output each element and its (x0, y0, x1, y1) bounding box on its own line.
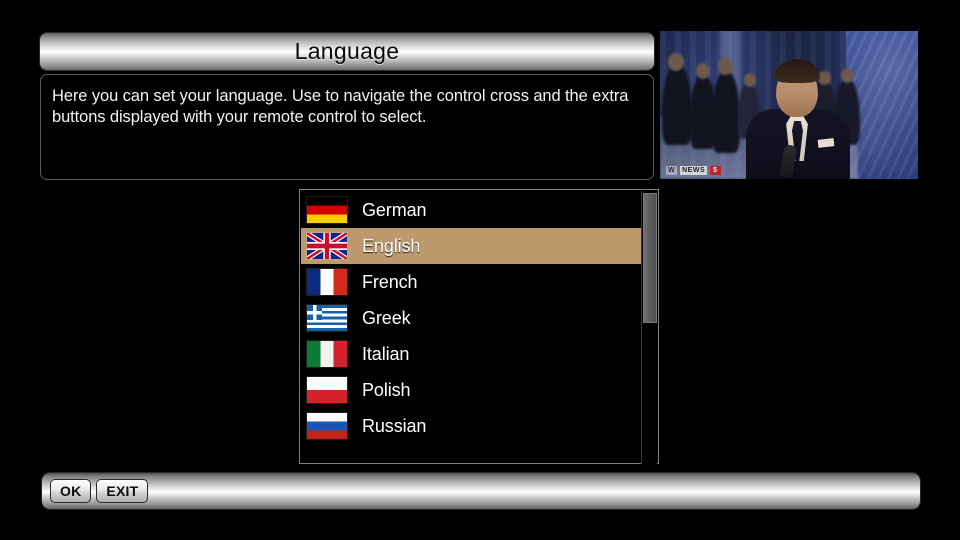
list-item-french[interactable]: French (301, 264, 641, 300)
page-title-bar: Language (40, 33, 654, 70)
de-flag-icon (307, 197, 347, 223)
list-item-label: Polish (362, 381, 410, 399)
ru-flag-icon (307, 413, 347, 439)
list-item-label: Italian (362, 345, 409, 363)
video-preview[interactable]: W NEWS 5 (660, 31, 918, 179)
it-flag-icon (307, 341, 347, 367)
list-scrollbar-track[interactable] (641, 191, 657, 464)
list-scrollbar-thumb[interactable] (643, 193, 657, 323)
description-panel: Here you can set your language. Use to n… (40, 74, 654, 180)
list-item-label: English (362, 237, 420, 255)
description-text: Here you can set your language. Use to n… (52, 86, 641, 128)
bottom-action-bar: OK EXIT (42, 473, 920, 509)
list-item-label: French (362, 273, 417, 291)
broadcaster-logo: W NEWS 5 (666, 166, 721, 175)
crowd-figure (712, 71, 740, 153)
list-item-greek[interactable]: Greek (301, 300, 641, 336)
reporter-pocket-square (818, 138, 835, 148)
list-item-italian[interactable]: Italian (301, 336, 641, 372)
list-item-russian[interactable]: Russian (301, 408, 641, 444)
reporter-hair (774, 59, 820, 83)
pl-flag-icon (307, 377, 347, 403)
list-item-german[interactable]: German (301, 192, 641, 228)
tv-settings-screen: Language Here you can set your language.… (0, 0, 960, 540)
list-item-label: German (362, 201, 426, 219)
page-title: Language (295, 38, 400, 65)
logo-part-1: W (666, 166, 677, 175)
gb-flag-icon (307, 233, 347, 259)
exit-button[interactable]: EXIT (96, 479, 148, 503)
fr-flag-icon (307, 269, 347, 295)
list-item-label: Russian (362, 417, 426, 435)
crowd-head (696, 63, 710, 79)
reporter-figure (746, 59, 850, 179)
crowd-head (718, 58, 733, 75)
logo-part-3: 5 (710, 166, 720, 175)
logo-part-2: NEWS (680, 166, 707, 175)
ok-button[interactable]: OK (50, 479, 91, 503)
list-item-polish[interactable]: Polish (301, 372, 641, 408)
list-item-label: Greek (362, 309, 411, 327)
language-list: German English French (301, 192, 641, 444)
crowd-figure (662, 65, 692, 145)
language-list-panel[interactable]: German English French (299, 189, 659, 464)
crowd-head (668, 53, 684, 71)
gr-flag-icon (307, 305, 347, 331)
list-item-english[interactable]: English (301, 228, 642, 264)
